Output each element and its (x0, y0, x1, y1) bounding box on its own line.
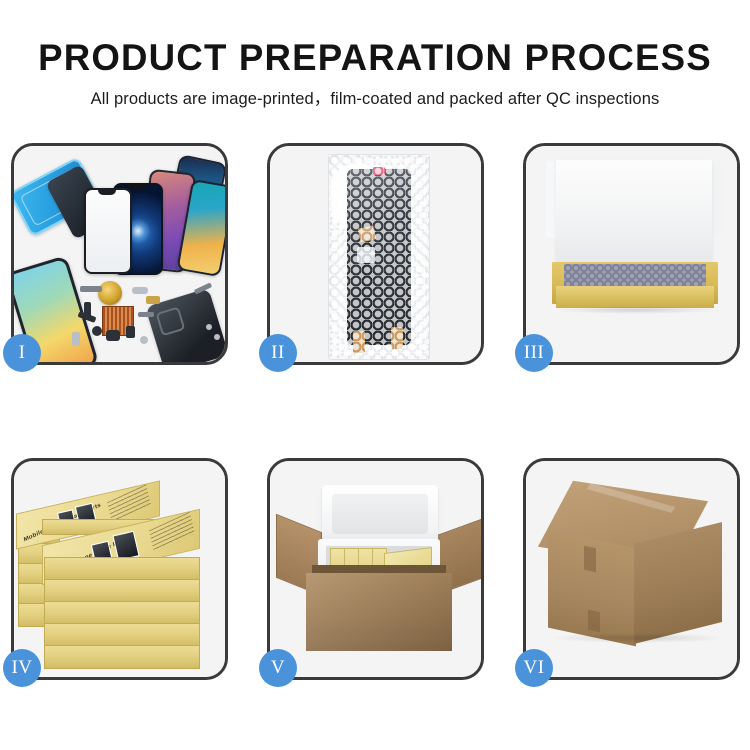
scene-carton-with-foam (270, 461, 481, 677)
lcd-gold-connector-right (391, 327, 403, 349)
carton-body (306, 573, 452, 651)
small-part-10 (138, 312, 154, 317)
small-part-6 (92, 326, 102, 336)
process-step-panel-6[interactable]: VI (523, 458, 740, 680)
box-drop-shadow (554, 306, 718, 314)
process-step-panel-3[interactable]: III (523, 143, 740, 365)
panel-1-image (14, 146, 225, 362)
copper-coil-part (98, 281, 122, 305)
process-step-panel-1[interactable]: I (11, 143, 228, 365)
small-part-9 (126, 326, 135, 338)
carton-right-face (634, 522, 722, 644)
scene-stacked-boxes: Mobile Phone Spare Parts Mobile Phone Sp… (14, 461, 225, 677)
small-part-14 (214, 334, 220, 340)
scene-sealed-carton (526, 461, 737, 677)
carton-tape-upper (584, 546, 596, 573)
stacked-box-fr-2 (44, 579, 200, 603)
white-foam-lid (556, 160, 712, 268)
kraft-box-front-panel (556, 286, 714, 308)
step-badge-5: V (259, 649, 297, 687)
step-badge-1: I (3, 334, 41, 372)
panel-4-image: Mobile Phone Spare Parts Mobile Phone Sp… (14, 461, 225, 677)
small-part-2 (132, 287, 148, 294)
stacked-box-fr-1 (44, 557, 200, 581)
lcd-connector (357, 247, 375, 263)
page-subtitle: All products are image-printed，film-coat… (0, 80, 750, 110)
process-step-panel-4[interactable]: Mobile Phone Spare Parts Mobile Phone Sp… (11, 458, 228, 680)
small-part-3 (146, 296, 160, 304)
scene-open-foam-box (526, 146, 737, 362)
panel-3-image (526, 146, 737, 362)
process-step-panel-5[interactable]: V (267, 458, 484, 680)
panel-2-image (270, 146, 481, 362)
step-badge-6: VI (515, 649, 553, 687)
stacked-box-fr-4 (44, 623, 200, 647)
small-part-13 (206, 324, 212, 330)
small-part-1 (80, 286, 102, 292)
lcd-gold-connector-left (353, 331, 365, 353)
panel-5-image (270, 461, 481, 677)
page-title: PRODUCT PREPARATION PROCESS (4, 0, 747, 80)
process-steps-grid: I II (11, 143, 740, 686)
step-badge-4: IV (3, 649, 41, 687)
stacked-box-fr-5 (44, 645, 200, 669)
step-badge-3: III (515, 334, 553, 372)
product-preparation-page: PRODUCT PREPARATION PROCESS All products… (0, 0, 750, 750)
small-part-7 (72, 332, 80, 346)
small-part-8 (106, 330, 120, 341)
process-step-panel-2[interactable]: II (267, 143, 484, 365)
stacked-box-fr-3 (44, 601, 200, 625)
page-header: PRODUCT PREPARATION PROCESS All products… (0, 0, 750, 110)
foam-box-lid-inner (332, 494, 428, 534)
carton-tape-lower (588, 610, 600, 633)
panel-6-image (526, 461, 737, 677)
small-part-11 (140, 336, 148, 344)
box-spec-lines-2 (149, 512, 195, 553)
step-badge-2: II (259, 334, 297, 372)
pink-qc-tag (373, 167, 385, 175)
foam-box-lid (322, 485, 438, 547)
bubble-wrap-bag (328, 154, 430, 360)
carton-drop-shadow (550, 633, 726, 643)
box-spec-lines-1 (107, 484, 151, 522)
scene-bubble-wrapped-screen (270, 146, 481, 362)
phone-white-screen (84, 188, 132, 274)
scene-raw-parts (14, 146, 225, 362)
